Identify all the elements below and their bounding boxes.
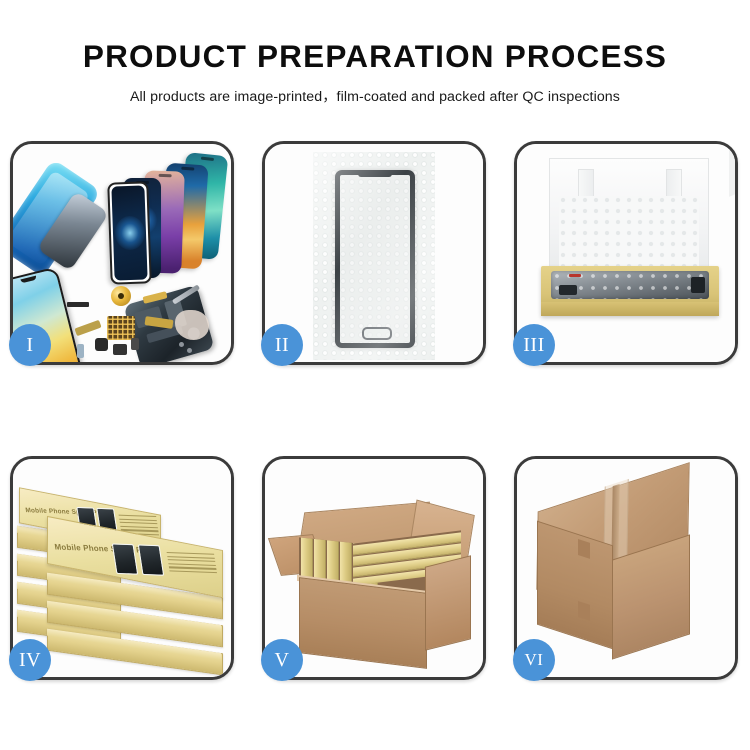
box-phone-image-3 (112, 543, 138, 574)
carton-front-wall (299, 577, 427, 669)
wrapped-product-in-box (551, 271, 709, 299)
phone-fan-group (109, 152, 231, 276)
step-1-image (13, 144, 231, 362)
bubble-wrap-sheet (313, 152, 435, 360)
step-badge-2: II (261, 324, 303, 366)
phone-screen-front-icon (107, 181, 152, 284)
vibrator-motor-icon (113, 344, 127, 355)
box-spec-lines-front (167, 552, 218, 576)
step-badge-3: III (513, 324, 555, 366)
foam-padding (559, 196, 699, 274)
process-step-1: I (10, 141, 234, 365)
step-3-image (517, 144, 735, 362)
process-step-grid: I II (10, 141, 740, 681)
process-step-2: II (262, 141, 486, 365)
sim-tray-icon (77, 344, 84, 358)
process-step-5: V (262, 456, 486, 680)
sealed-carton (537, 487, 727, 657)
flex-cable-b-icon (145, 316, 174, 329)
process-step-4: Mobile Phone Spare Parts Mobile Phone Sp… (10, 456, 234, 680)
page-title: PRODUCT PREPARATION PROCESS (0, 0, 750, 75)
spare-parts-group (59, 286, 209, 362)
kraft-box-tray (541, 266, 719, 316)
open-carton (275, 499, 475, 669)
process-step-6: VI (514, 456, 738, 680)
step-badge-5: V (261, 639, 303, 681)
box-phone-image-4 (138, 544, 164, 575)
step-badge-1: I (9, 324, 51, 366)
step-badge-6: VI (513, 639, 555, 681)
step-2-image (265, 144, 483, 362)
kraft-box-front-wall (541, 302, 719, 316)
speaker-coil-icon (111, 286, 131, 306)
side-button-icon (131, 338, 139, 350)
carton-side-wall (425, 555, 471, 650)
flex-cable-a-icon (143, 291, 168, 304)
step-badge-4: IV (9, 639, 51, 681)
box-edge-right (729, 144, 735, 197)
screw-2-icon (187, 348, 192, 353)
retail-box-stack: Mobile Phone Spare Parts Mobile Phone Sp… (17, 477, 231, 673)
process-step-3: III (514, 141, 738, 365)
earpiece-mesh-icon (67, 302, 89, 307)
connector-array-icon (107, 316, 135, 340)
screw-1-icon (179, 342, 184, 347)
page-subtitle: All products are image-printed，film-coat… (0, 75, 750, 106)
step-6-image (517, 459, 735, 677)
step-4-image: Mobile Phone Spare Parts Mobile Phone Sp… (13, 459, 231, 677)
tweezers-icon (172, 284, 200, 304)
camera-module-icon (95, 338, 108, 351)
hand-icon (175, 310, 209, 340)
step-5-image (265, 459, 483, 677)
page-header: PRODUCT PREPARATION PROCESS All products… (0, 0, 750, 106)
plastic-sheen-overlay (313, 152, 435, 360)
flex-cable-c-icon (74, 320, 101, 336)
